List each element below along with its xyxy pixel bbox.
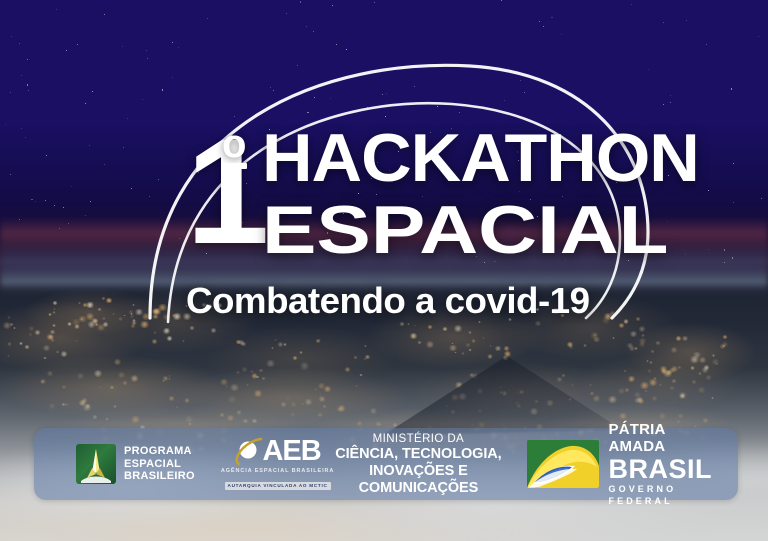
rocket-icon bbox=[76, 444, 116, 484]
logo-ministerio: MINISTÉRIO DA CIÊNCIA, TECNOLOGIA, INOVA… bbox=[334, 432, 502, 497]
subtitle-text: Combatendo a covid-19 bbox=[186, 282, 589, 320]
aeb-full-name: AGÊNCIA ESPACIAL BRASILEIRA bbox=[221, 468, 334, 474]
title-line-espacial: ESPACIAL bbox=[262, 196, 669, 264]
logo-governo-federal: PÁTRIA AMADA BRASIL GOVERNO FEDERAL bbox=[527, 421, 713, 507]
aeb-acronym: AEB bbox=[262, 437, 320, 466]
aeb-wordmark-row: AEB bbox=[221, 436, 334, 466]
logo-aeb: AEB AGÊNCIA ESPACIAL BRASILEIRA AUTARQUI… bbox=[221, 436, 334, 492]
sponsor-banner: PROGRAMA ESPACIAL BRASILEIRO AEB AGÊNCIA… bbox=[34, 428, 738, 500]
ordinal-mark: o bbox=[222, 124, 246, 164]
ministerio-line-3: INOVAÇÕES E COMUNICAÇÕES bbox=[334, 463, 502, 497]
title-line-hackathon: HACKATHON bbox=[262, 124, 699, 192]
aeb-affiliation: AUTARQUIA VINCULADA AO MCTIC bbox=[225, 482, 331, 490]
logo-programa-espacial-brasileiro: PROGRAMA ESPACIAL BRASILEIRO bbox=[76, 444, 195, 484]
ordinal-underline bbox=[222, 163, 247, 169]
governo-line-1: PÁTRIA AMADA bbox=[609, 421, 713, 455]
aeb-swoosh-icon bbox=[234, 436, 264, 466]
title-block: 1 o HACKATHON ESPACIAL Combatendo a covi… bbox=[0, 0, 768, 420]
peb-label: PROGRAMA ESPACIAL BRASILEIRO bbox=[124, 445, 195, 483]
ministerio-line-1: MINISTÉRIO DA bbox=[334, 432, 502, 446]
governo-line-2: BRASIL bbox=[609, 455, 713, 483]
poster-root: 1 o HACKATHON ESPACIAL Combatendo a covi… bbox=[0, 0, 768, 541]
governo-line-3: GOVERNO FEDERAL bbox=[609, 483, 713, 507]
peb-line-2: ESPACIAL bbox=[124, 458, 195, 471]
ministerio-line-2: CIÊNCIA, TECNOLOGIA, bbox=[334, 446, 502, 463]
governo-label: PÁTRIA AMADA BRASIL GOVERNO FEDERAL bbox=[609, 421, 713, 507]
peb-line-3: BRASILEIRO bbox=[124, 470, 195, 483]
peb-line-1: PROGRAMA bbox=[124, 445, 195, 458]
brazil-flag-icon bbox=[527, 440, 599, 488]
